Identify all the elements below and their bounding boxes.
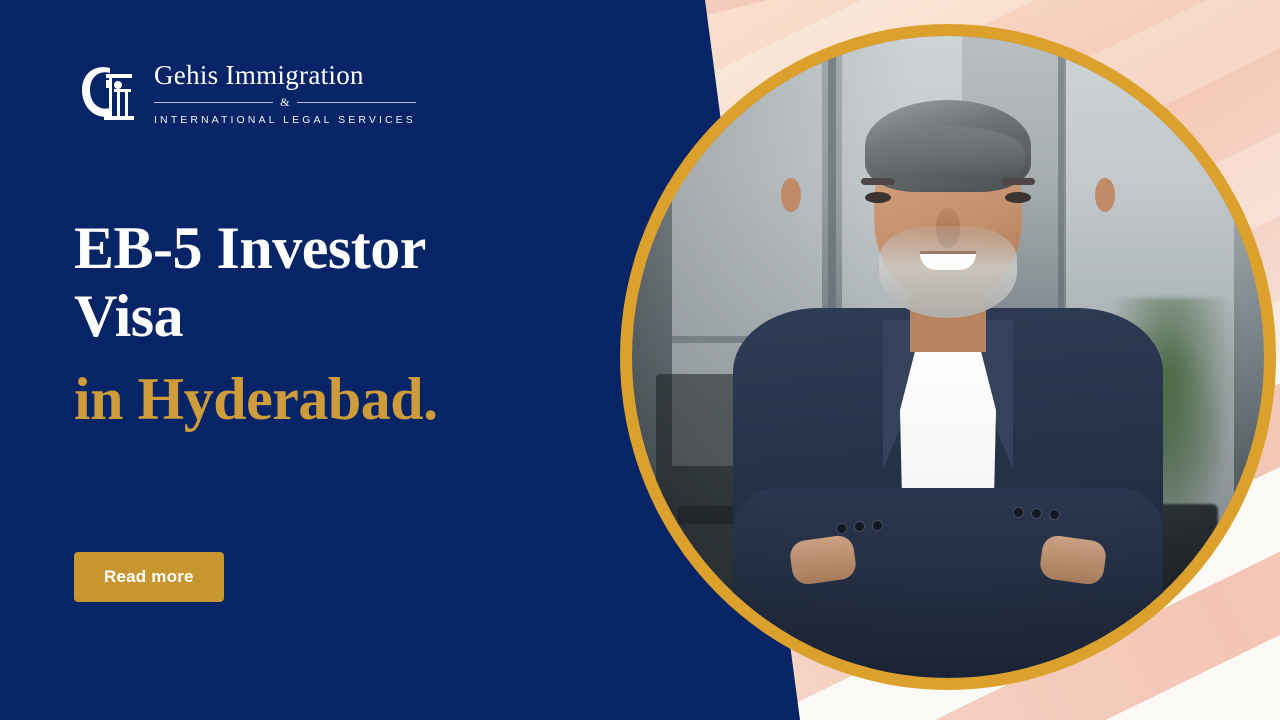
eye — [865, 192, 891, 203]
brand-wordmark: Gehis Immigration & INTERNATIONAL LEGAL … — [154, 62, 416, 126]
ear — [1095, 178, 1115, 212]
headline-line-1: EB-5 Investor — [74, 215, 426, 281]
sleeve-button — [1032, 509, 1041, 518]
eyebrow — [1001, 178, 1035, 185]
sleeve-button — [873, 521, 882, 530]
divider-rule-left — [154, 102, 273, 103]
read-more-button[interactable]: Read more — [74, 552, 224, 602]
beard — [879, 226, 1017, 318]
hero-banner: Gehis Immigration & INTERNATIONAL LEGAL … — [0, 0, 1280, 720]
brand-name: Gehis Immigration — [154, 62, 416, 89]
smile — [920, 254, 976, 270]
eye — [1005, 192, 1031, 203]
crossed-arms — [733, 488, 1163, 678]
portrait-circle-frame — [620, 24, 1276, 690]
brand-divider: & — [154, 96, 416, 108]
sleeve-button — [1014, 508, 1023, 517]
headline-accent-line: in Hyderabad. — [74, 365, 594, 433]
column-g-monogram-icon — [76, 58, 140, 130]
sleeve-button — [855, 522, 864, 531]
brand-tagline: INTERNATIONAL LEGAL SERVICES — [154, 114, 416, 126]
brand-ampersand: & — [280, 96, 289, 108]
sleeve-button — [837, 524, 846, 533]
hero-content: Gehis Immigration & INTERNATIONAL LEGAL … — [0, 0, 620, 720]
brand-logo[interactable]: Gehis Immigration & INTERNATIONAL LEGAL … — [76, 58, 416, 130]
divider-rule-right — [297, 102, 416, 103]
person-figure — [733, 58, 1163, 678]
page-title: EB-5 Investor Visa in Hyderabad. — [74, 214, 594, 433]
sleeve-button — [1050, 510, 1059, 519]
headline-line-2: Visa — [74, 283, 183, 349]
portrait-photo — [632, 36, 1264, 678]
ear — [781, 178, 801, 212]
eyebrow — [861, 178, 895, 185]
